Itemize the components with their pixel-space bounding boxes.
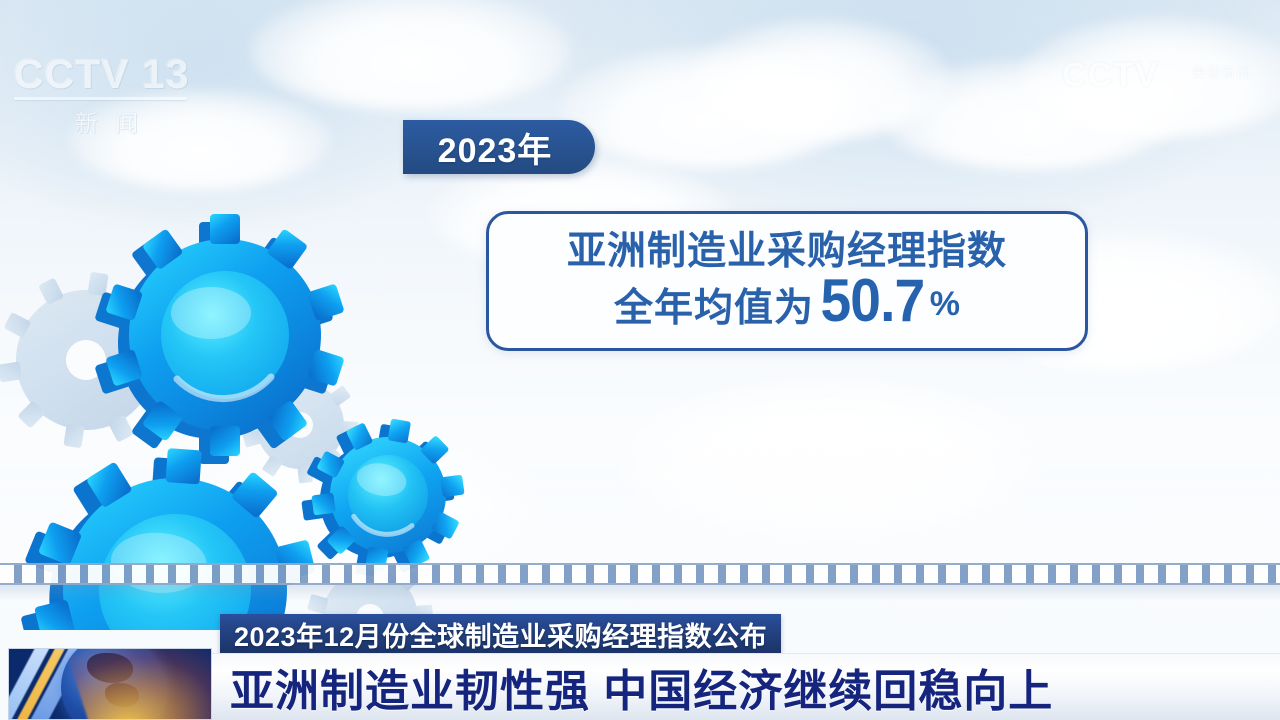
chyron-topic-bar: 2023年12月份全球制造业采购经理指数公布: [220, 614, 781, 654]
divider-shadow: [0, 585, 1280, 601]
callout-value-label: 全年均值为: [614, 283, 814, 335]
chyron-headline-text: 亚洲制造业韧性强 中国经济继续回稳向上: [230, 655, 1053, 719]
cctv-corner-text: CCTV: [1062, 56, 1159, 94]
year-badge: 2023年: [403, 120, 595, 174]
industrial-gears-icon: [0, 120, 520, 630]
cctv13-logo-rule: [14, 97, 186, 100]
cctv-corner-subtext: 央视新闻: [1192, 62, 1252, 81]
lower-third-chyron: 2023年12月份全球制造业采购经理指数公布 亚洲制造业韧性强 中国经济继续回稳…: [0, 608, 1280, 720]
dashed-divider-band: [0, 563, 1280, 585]
cctv-corner-watermark: CCTV 央视新闻: [1062, 56, 1252, 120]
chyron-topic-text: 2023年12月份全球制造业采购经理指数公布: [234, 615, 767, 654]
broadcast-screen: CCTV 13 新闻 CCTV 央视新闻: [0, 0, 1280, 720]
callout-value-line: 全年均值为 50.7 %: [614, 275, 960, 336]
statistic-callout-box: 亚洲制造业采购经理指数 全年均值为 50.7 %: [486, 211, 1088, 351]
callout-index-name: 亚洲制造业采购经理指数: [567, 229, 1007, 275]
chyron-headline-bar: 亚洲制造业韧性强 中国经济继续回稳向上: [212, 653, 1280, 720]
year-badge-label: 2023年: [438, 123, 553, 172]
callout-value-number: 50.7: [821, 275, 925, 327]
callout-value-unit: %: [930, 278, 960, 330]
cctv13-logo-text: CCTV 13: [14, 52, 199, 96]
news-program-thumbnail: [8, 648, 212, 720]
